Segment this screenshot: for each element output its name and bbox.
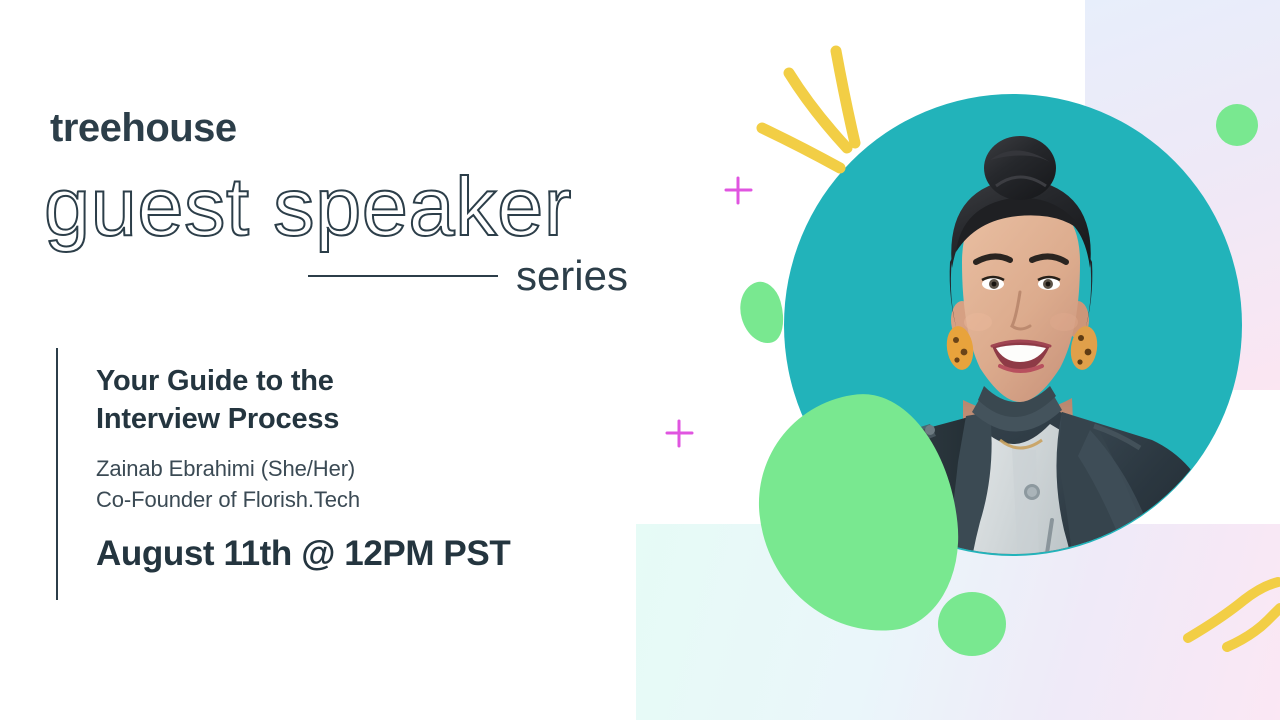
talk-title-line-1: Your Guide to the bbox=[96, 362, 510, 400]
event-datetime: August 11th @ 12PM PST bbox=[96, 535, 510, 574]
headline-guest-speaker: guest speaker bbox=[44, 165, 572, 248]
speaker-role: Co-Founder of Florish.Tech bbox=[96, 484, 510, 515]
promo-slide: treehouse guest speaker series Your Guid… bbox=[0, 0, 1280, 720]
series-divider-rule bbox=[308, 275, 498, 277]
speaker-name: Zainab Ebrahimi (She/Her) bbox=[96, 453, 510, 484]
event-details: Your Guide to the Interview Process Zain… bbox=[56, 348, 510, 600]
series-row: series bbox=[308, 255, 628, 297]
talk-title-line-2: Interview Process bbox=[96, 400, 510, 438]
green-dot-bottom bbox=[938, 592, 1006, 656]
series-label: series bbox=[516, 255, 628, 297]
treehouse-wordmark: treehouse bbox=[50, 108, 237, 148]
